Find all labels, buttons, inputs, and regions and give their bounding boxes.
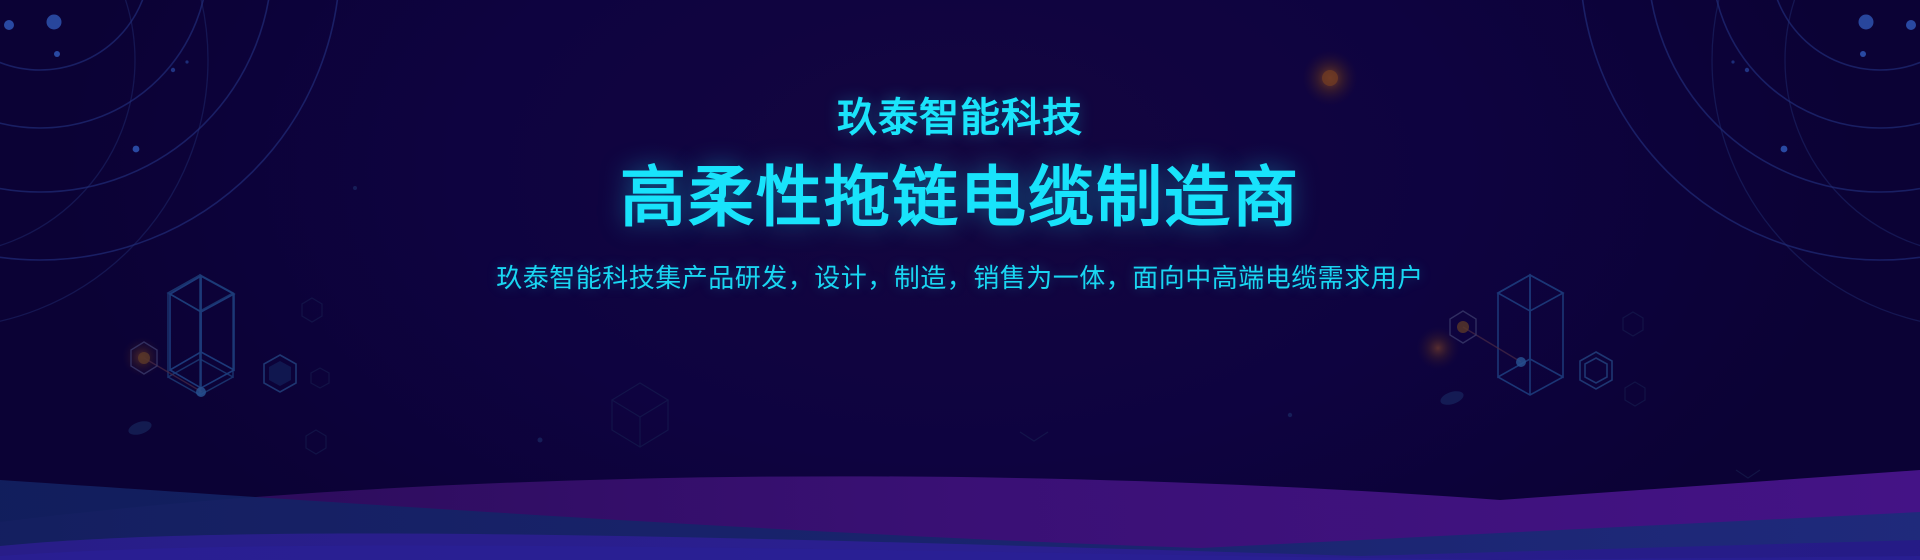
hero-banner: 玖泰智能科技 高柔性拖链电缆制造商 玖泰智能科技集产品研发，设计，制造，销售为一… [0,0,1920,560]
banner-eyebrow: 玖泰智能科技 [837,97,1083,139]
banner-headline: 高柔性拖链电缆制造商 [620,163,1300,233]
banner-subline: 玖泰智能科技集产品研发，设计，制造，销售为一体，面向中高端电缆需求用户 [496,263,1424,294]
